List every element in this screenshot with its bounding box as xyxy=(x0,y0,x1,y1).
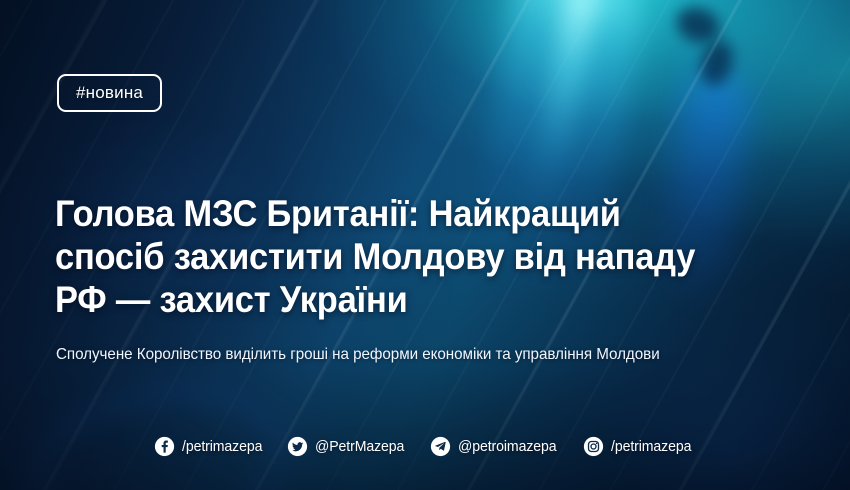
telegram-icon xyxy=(430,436,451,457)
page-title: Голова МЗС Британії: Найкращий спосіб за… xyxy=(55,192,706,321)
twitter-icon xyxy=(287,436,308,457)
news-social-card: #новина Голова МЗС Британії: Найкращий с… xyxy=(0,0,850,490)
page-subtitle: Сполучене Королівство виділить гроші на … xyxy=(56,344,759,366)
social-handle-instagram: /petrimazepa xyxy=(611,438,691,455)
facebook-icon xyxy=(154,436,175,457)
tag-badge[interactable]: #новина xyxy=(57,74,162,112)
social-link-facebook[interactable]: /petrimazepa xyxy=(154,436,268,457)
social-handle-facebook: /petrimazepa xyxy=(182,438,262,455)
social-link-telegram[interactable]: @petroimazepa xyxy=(430,436,563,457)
social-handle-telegram: @petroimazepa xyxy=(458,438,557,455)
social-links-row: /petrimazepa @PetrMazepa @petroimazepa xyxy=(0,436,850,457)
social-handle-twitter: @PetrMazepa xyxy=(315,438,404,455)
tag-badge-label: #новина xyxy=(76,83,143,103)
social-link-instagram[interactable]: /petrimazepa xyxy=(583,436,697,457)
social-link-twitter[interactable]: @PetrMazepa xyxy=(287,436,410,457)
instagram-icon xyxy=(583,436,604,457)
